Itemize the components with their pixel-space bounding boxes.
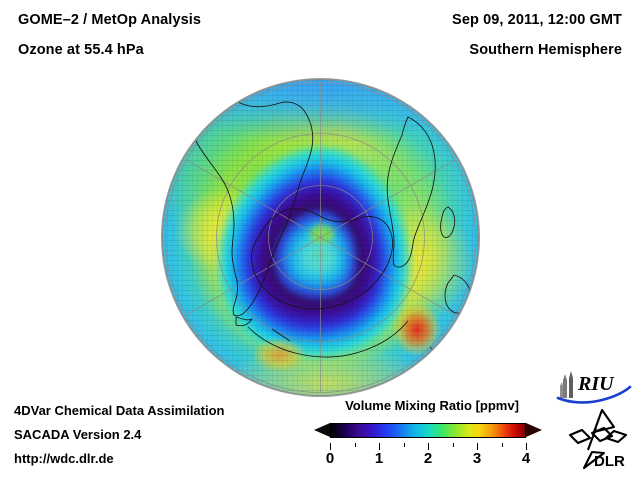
assimilation-label: 4DVar Chemical Data Assimilation: [14, 403, 225, 418]
ozone-field-orange-patch: [162, 79, 479, 396]
colorbar-tick-minor: [502, 443, 503, 447]
colorbar-tick-major: [428, 443, 429, 450]
colorbar-tick-label: 0: [326, 450, 334, 467]
colorbar-bar-row: [312, 419, 544, 443]
page-subtitle: Ozone at 55.4 hPa: [18, 42, 144, 58]
colorbar-over-arrow-icon: [526, 423, 542, 437]
website-link[interactable]: http://wdc.dlr.de: [14, 451, 114, 466]
riu-logo: RIU: [556, 368, 632, 404]
colorbar-under-arrow-icon: [314, 423, 330, 437]
hemisphere-label: Southern Hemisphere: [469, 42, 622, 58]
globe-disc: [162, 79, 479, 396]
colorbar-tick-label: 3: [473, 450, 481, 467]
colorbar-tick-minor: [355, 443, 356, 447]
dlr-logo: DLR: [564, 408, 630, 470]
colorbar-title: Volume Mixing Ratio [ppmv]: [320, 398, 544, 413]
cathedral-towers-icon: [560, 371, 573, 398]
colorbar-gradient: [330, 423, 526, 438]
colorbar-tick-major: [330, 443, 331, 450]
colorbar-tick-minor: [453, 443, 454, 447]
colorbar-tick-major: [477, 443, 478, 450]
version-label: SACADA Version 2.4: [14, 427, 141, 442]
colorbar-tick-label: 1: [375, 450, 383, 467]
ozone-map-globe: [162, 79, 479, 396]
colorbar-tick-label: 2: [424, 450, 432, 467]
dlr-logo-text: DLR: [594, 453, 625, 470]
colorbar: Volume Mixing Ratio [ppmv] 01234: [312, 398, 544, 470]
riu-logo-text: RIU: [577, 373, 615, 395]
colorbar-tick-minor: [404, 443, 405, 447]
colorbar-tick-major: [379, 443, 380, 450]
page-title: GOME–2 / MetOp Analysis: [18, 12, 201, 28]
colorbar-tick-major: [526, 443, 527, 450]
timestamp-label: Sep 09, 2011, 12:00 GMT: [452, 12, 622, 28]
colorbar-tick-label: 4: [522, 450, 530, 467]
colorbar-labels: 01234: [312, 450, 544, 470]
colorbar-ticks: [312, 443, 544, 450]
